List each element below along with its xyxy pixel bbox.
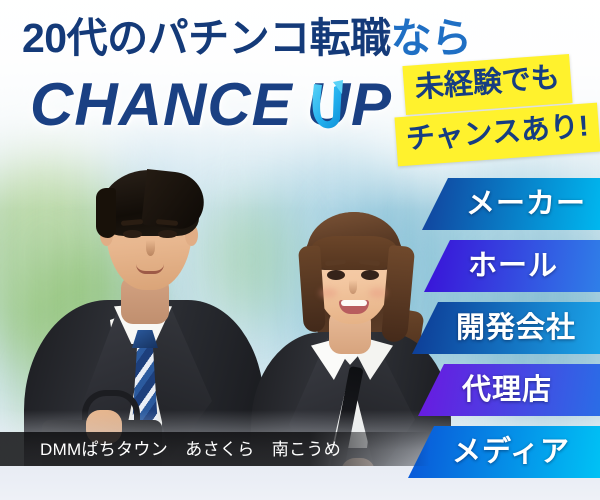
category-button-developer[interactable]: 開発会社 [412, 302, 600, 354]
headline-accent: なら [391, 15, 472, 61]
logotype-chance-up: CHANCE UP [30, 76, 392, 133]
man-nose [146, 240, 155, 256]
category-label-maker: メーカー [466, 190, 586, 219]
woman-blush-left [319, 288, 337, 298]
headline: 20代のパチンコ転職なら [22, 18, 472, 59]
woman-nose [349, 280, 357, 294]
banner-root: 20代のパチンコ転職なら CHANCE UP 未経験でも チャンスあり [0, 0, 600, 500]
logotype-word-chance: CHANCE [30, 76, 293, 133]
category-label-hall: ホール [468, 252, 558, 281]
man-hair-sideburn [96, 188, 116, 238]
logotype-up-group: UP [307, 76, 392, 133]
category-button-hall[interactable]: ホール [424, 240, 600, 292]
category-label-media: メディア [452, 438, 570, 467]
badge-chance-available-label: チャンスあり! [405, 110, 590, 155]
category-label-agency: 代理店 [462, 376, 552, 405]
woman-teeth [341, 300, 367, 306]
badge-no-experience-label: 未経験でも [414, 62, 561, 105]
woman-eye-right [361, 270, 379, 280]
woman-eye-left [327, 270, 345, 280]
category-button-agency[interactable]: 代理店 [418, 364, 600, 416]
woman-blush-right [369, 288, 387, 298]
man-eye-right [158, 230, 177, 238]
logotype-word-up: UP [307, 71, 392, 138]
man-eye-left [123, 230, 142, 238]
category-label-developer: 開発会社 [456, 314, 576, 343]
credit-bar: DMMぱちタウン あさくら 南こうめ [0, 432, 430, 466]
woman-bangs [311, 236, 397, 270]
category-button-maker[interactable]: メーカー [422, 178, 600, 230]
credit-text: DMMぱちタウン あさくら 南こうめ [0, 441, 341, 458]
category-button-media[interactable]: メディア [408, 426, 600, 478]
headline-main: 20代のパチンコ転職 [22, 15, 391, 61]
